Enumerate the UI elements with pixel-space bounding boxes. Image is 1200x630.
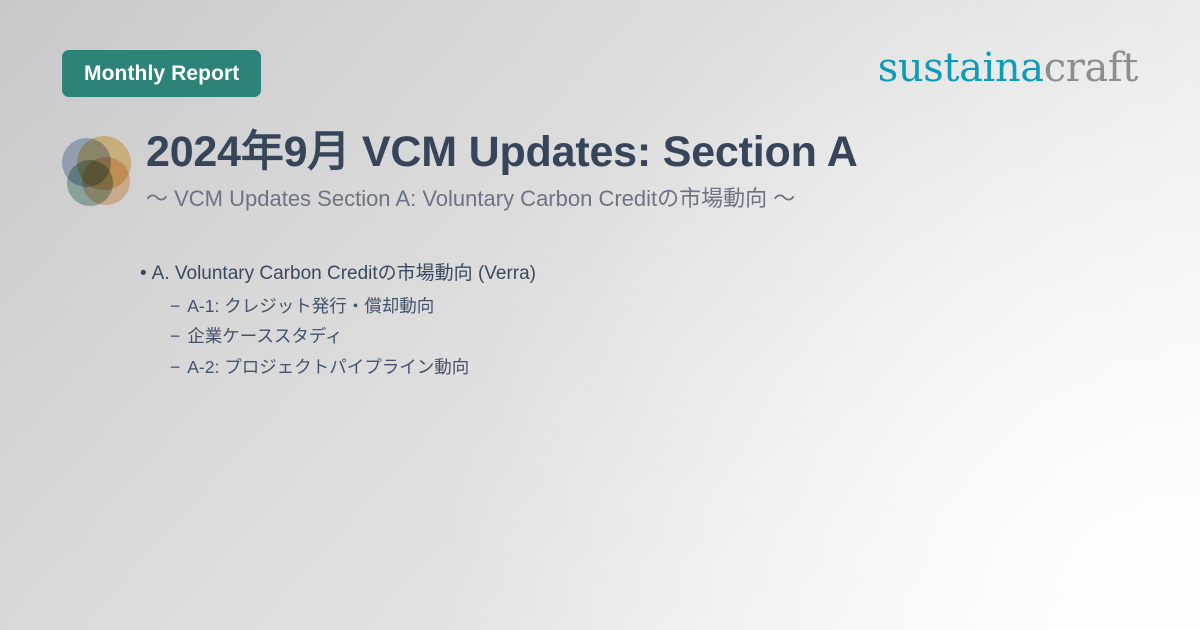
agenda-subitem-label: A-1: クレジット発行・償却動向 [187, 296, 434, 316]
page-subtitle: 〜 VCM Updates Section A: Voluntary Carbo… [146, 185, 858, 214]
agenda-item-label: A. Voluntary Carbon Creditの市場動向 (Verra) [152, 263, 536, 284]
agenda-subitem: −A-2: プロジェクトパイプライン動向 [170, 352, 536, 382]
agenda-subitem-label: 企業ケーススタディ [187, 326, 342, 346]
logo-text-craft: craft [1044, 45, 1138, 91]
agenda-item-top: •A. Voluntary Carbon Creditの市場動向 (Verra) [140, 258, 536, 291]
dash-icon: − [170, 296, 180, 316]
agenda-subitem: −A-1: クレジット発行・償却動向 [170, 291, 536, 321]
monthly-report-badge: Monthly Report [62, 50, 261, 97]
slide-root: Monthly Report sustainacraft 2024年9月 VCM… [0, 0, 1200, 630]
title-block: 2024年9月 VCM Updates: Section A 〜 VCM Upd… [62, 128, 858, 214]
agenda-subitem: −企業ケーススタディ [170, 321, 536, 351]
agenda-list: •A. Voluntary Carbon Creditの市場動向 (Verra)… [140, 258, 536, 382]
slide-header: Monthly Report sustainacraft [0, 0, 1200, 120]
bullet-point-icon: • [140, 263, 147, 284]
agenda-subitem-label: A-2: プロジェクトパイプライン動向 [187, 357, 469, 377]
page-title: 2024年9月 VCM Updates: Section A [146, 128, 858, 176]
dash-icon: − [170, 326, 180, 346]
sustainacraft-logo: sustainacraft [878, 48, 1138, 88]
logo-text-sustaina: sustaina [878, 45, 1044, 91]
heading-group: 2024年9月 VCM Updates: Section A 〜 VCM Upd… [146, 128, 858, 214]
circle-orange-icon [82, 157, 130, 205]
dash-icon: − [170, 357, 180, 377]
overlapping-circles-icon [62, 136, 134, 208]
